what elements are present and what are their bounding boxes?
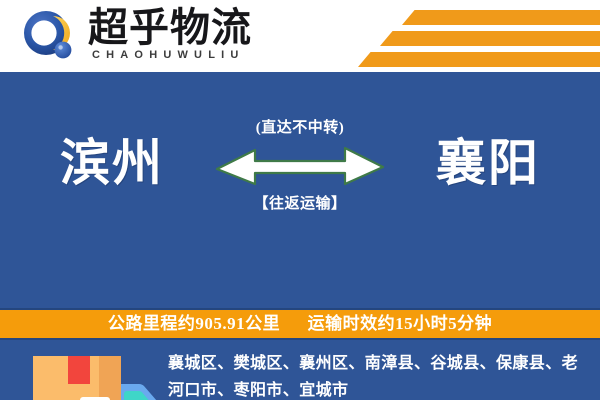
- stripe-1: [402, 10, 600, 25]
- route-section: 滨州 (直达不中转) 【往返运输】 襄阳: [0, 110, 600, 230]
- double-headed-arrow-icon: [215, 144, 385, 186]
- brand-name-en: CHAOHUWULIU: [92, 49, 245, 61]
- route-arrow-block: (直达不中转) 【往返运输】: [205, 110, 395, 228]
- origin-city: 滨州: [60, 134, 164, 192]
- distance-label: 公路里程约905.91公里: [108, 314, 280, 333]
- coverage-areas: 襄城区、樊城区、襄州区、南漳县、谷城县、保康县、老河口市、枣阳市、宜城市: [168, 350, 588, 400]
- duration-label: 运输时效约15小时5分钟: [308, 314, 493, 333]
- decorative-stripes: [340, 0, 600, 72]
- route-caption-top: (直达不中转): [205, 118, 395, 138]
- destination-city: 襄阳: [436, 134, 540, 192]
- logistics-route-banner: 超乎物流 CHAOHUWULIU 滨州 (直达不中转) 【往返运输】 襄阳 公路…: [0, 0, 600, 400]
- delivery-truck-icon: [28, 350, 162, 400]
- info-bar-text: 公路里程约905.91公里 运输时效约15小时5分钟: [108, 310, 492, 338]
- stripe-3: [358, 52, 600, 67]
- banner-header: 超乎物流 CHAOHUWULIU: [0, 0, 600, 72]
- banner-body: 滨州 (直达不中转) 【往返运输】 襄阳 公路里程约905.91公里 运输时效约…: [0, 72, 600, 400]
- info-bar: 公路里程约905.91公里 运输时效约15小时5分钟: [0, 308, 600, 340]
- brand-name-cn: 超乎物流: [88, 6, 252, 50]
- stripe-2: [380, 31, 600, 46]
- route-caption-bottom: 【往返运输】: [205, 194, 395, 214]
- company-logo-icon: [22, 10, 78, 64]
